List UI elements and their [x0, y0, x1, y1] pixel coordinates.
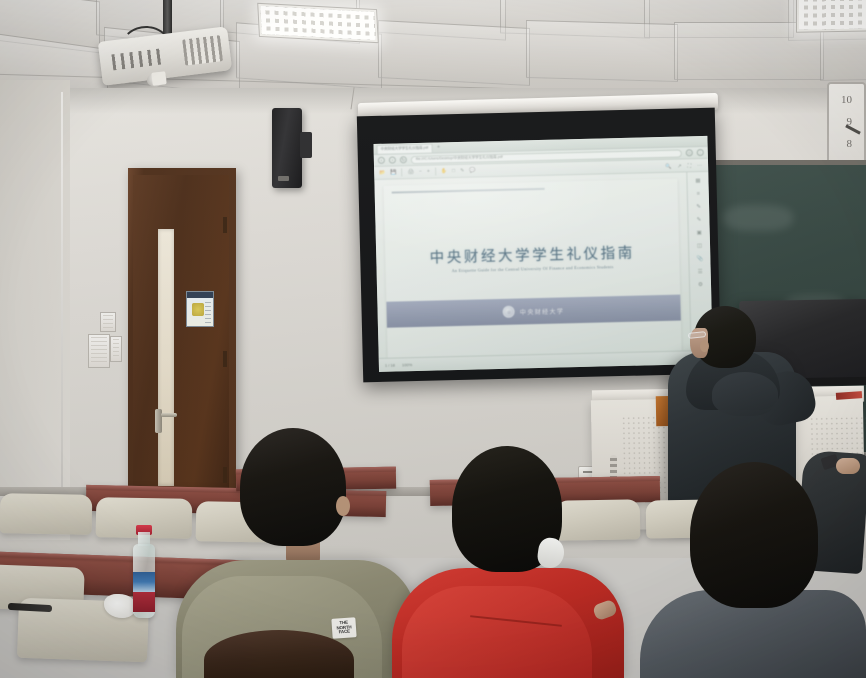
stamp-icon[interactable]: ▣ [697, 230, 702, 236]
projector-vent [182, 35, 223, 65]
speaker-logo [278, 176, 289, 181]
door-sign-emblem [192, 303, 204, 316]
clock-number-8: 8 [847, 138, 853, 150]
projection-surface: 中央财经大学学生礼仪指南.pdf + ‹ › ↻ file:///C:/User… [373, 136, 712, 372]
wall-speaker [272, 108, 302, 188]
bookmark-icon[interactable]: ☆ [686, 149, 693, 156]
ceiling-light-panel-right [796, 0, 866, 33]
student-red-hood [402, 586, 592, 678]
menu-icon[interactable]: ⋮ [697, 149, 704, 156]
reload-icon[interactable]: ↻ [400, 156, 407, 163]
wall-corner [61, 92, 63, 512]
share-icon[interactable]: ↗ [677, 163, 681, 169]
document-footer-org: 中央财经大学 [520, 306, 565, 316]
door-hinge-mid [223, 351, 227, 367]
bottle-label [133, 572, 155, 594]
door-handle-lever[interactable] [161, 413, 177, 417]
measure-icon[interactable]: ◫ [697, 243, 702, 249]
save-icon[interactable]: 💾 [390, 169, 396, 175]
app-new-tab-button[interactable]: + [435, 144, 442, 150]
door-hinge-top [223, 217, 227, 233]
thumbnails-icon[interactable]: ▦ [695, 178, 700, 184]
university-seal-icon: ☉ [503, 306, 515, 318]
wall-switch-plate[interactable] [110, 336, 122, 362]
door-glass-strip [158, 229, 174, 486]
clock-number-10: 10 [841, 94, 852, 106]
forward-arrow-icon[interactable]: › [389, 156, 396, 163]
settings-gear-icon[interactable]: ⚙ [698, 282, 703, 288]
student-khaki-head [240, 428, 346, 546]
wall-control-panel-upper[interactable] [100, 312, 116, 332]
app-document-area[interactable]: 中央财经大学学生礼仪指南 An Etiquette Guide for the … [374, 172, 690, 358]
chair-mid-1 [0, 493, 92, 535]
layers-icon[interactable]: ☰ [698, 269, 703, 275]
zoom-out-icon[interactable]: − [419, 169, 422, 175]
attachment-icon[interactable]: 📎 [696, 256, 703, 262]
page-header-rule [392, 188, 545, 194]
back-arrow-icon[interactable]: ‹ [378, 157, 385, 164]
app-tab-document[interactable]: 中央财经大学学生礼仪指南.pdf [376, 143, 432, 153]
app-tab-label: 中央财经大学学生礼仪指南.pdf [381, 146, 429, 152]
outline-icon[interactable]: ≡ [697, 191, 700, 197]
zoom-in-icon[interactable]: + [427, 169, 430, 175]
app-toolbar-right: 🔍 ↗ ⛶ ⋯ [665, 159, 702, 173]
projected-pdf-reader: 中央财经大学学生礼仪指南.pdf + ‹ › ↻ file:///C:/User… [373, 136, 712, 372]
wall-control-panel-lower[interactable] [88, 334, 110, 368]
select-tool-icon[interactable]: □ [452, 168, 455, 174]
highlight-icon[interactable]: ✎ [460, 168, 464, 174]
zoom-level[interactable]: 100% [402, 362, 412, 367]
projector-controls [111, 48, 165, 70]
chair-far-1 [556, 499, 641, 540]
comment-icon[interactable]: 💬 [469, 168, 475, 174]
annotate-icon[interactable]: ✎ [696, 204, 701, 210]
document-page: 中央财经大学学生礼仪指南 An Etiquette Guide for the … [384, 179, 682, 358]
door-hinge-bottom [223, 467, 227, 483]
page-indicator[interactable]: 1 / 18 [385, 363, 395, 368]
print-icon[interactable]: 🖨 [408, 169, 415, 175]
classroom-photo: 10 9 8 [0, 0, 866, 678]
presenter-hood-fold [712, 372, 778, 416]
hand-tool-icon[interactable]: ✋ [441, 168, 447, 174]
student-khaki-ear [336, 496, 350, 516]
signature-icon[interactable]: ✎ [697, 217, 702, 223]
bottle-label-band [133, 592, 155, 612]
left-wall [0, 80, 70, 540]
north-face-logo: THE NORTH FACE [331, 617, 356, 639]
student-right-head [690, 462, 818, 608]
door-notice-sign [186, 291, 214, 327]
door-sign-text-lines [205, 302, 211, 323]
person-hand [836, 458, 860, 474]
pen-on-desk [8, 603, 52, 612]
search-icon[interactable]: 🔍 [665, 163, 671, 169]
open-file-icon[interactable]: 📂 [379, 170, 385, 176]
fullscreen-icon[interactable]: ⛶ [688, 163, 692, 169]
speaker-bracket [300, 132, 312, 158]
door-panel [133, 175, 229, 494]
document-footer-band: ☉ 中央财经大学 [386, 295, 681, 328]
clock-hand [845, 124, 861, 134]
projection-screen: 中央财经大学学生礼仪指南.pdf + ‹ › ↻ file:///C:/User… [357, 108, 721, 383]
projector-cap [151, 71, 166, 86]
presenter-ear [700, 340, 709, 352]
overflow-menu-icon[interactable]: ⋯ [697, 162, 702, 168]
classroom-door[interactable] [128, 168, 236, 494]
ceiling-light-panel-left [257, 3, 379, 43]
